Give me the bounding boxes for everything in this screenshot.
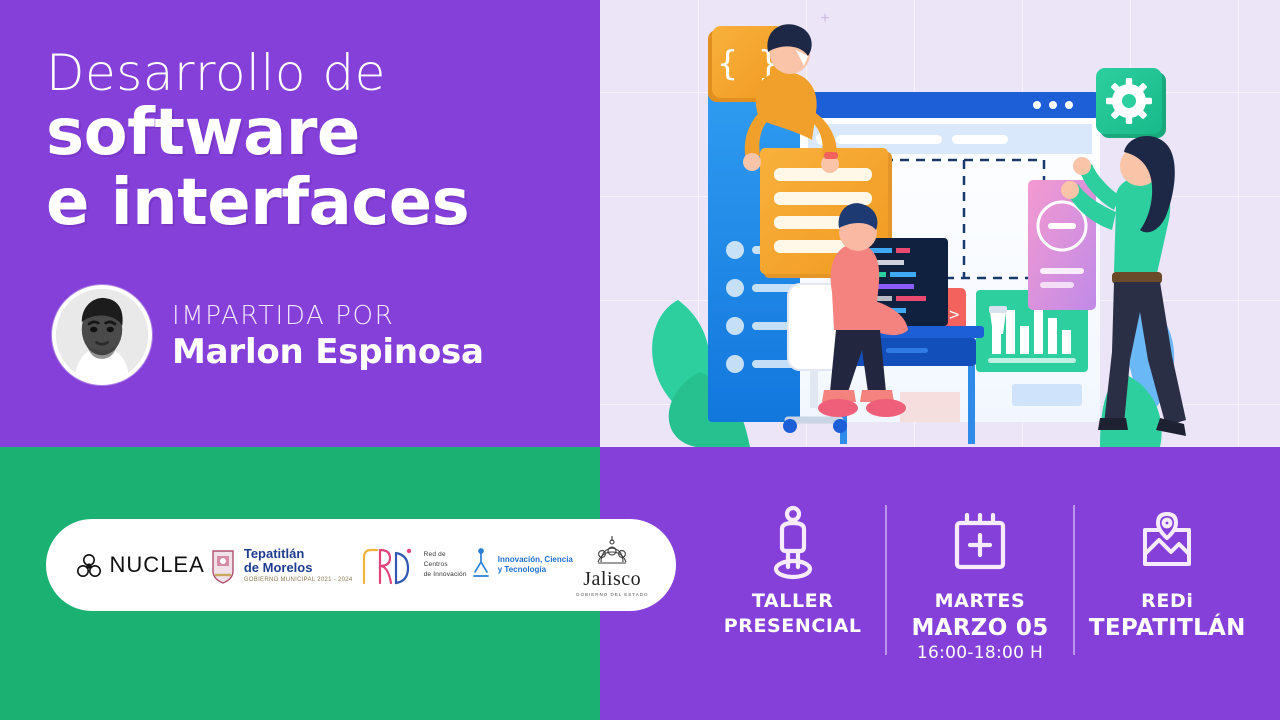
modality-line-1: TALLER	[724, 589, 862, 614]
detail-modality-lines: TALLER PRESENCIAL	[724, 589, 862, 638]
software-development-illustration: { }	[600, 0, 1280, 447]
date-line-2: MARZO 05	[911, 614, 1048, 643]
jalisco-crown-icon	[592, 534, 632, 568]
date-line-3: 16:00-18:00 H	[911, 642, 1048, 665]
ict-line-1: Innovación, Ciencia	[498, 555, 573, 565]
tepatitlan-crest-icon	[208, 545, 238, 585]
sponsor-logo-nuclea: NUCLEA	[74, 549, 205, 581]
detail-date-lines: MARTES MARZO 05 16:00-18:00 H	[911, 589, 1048, 665]
location-line-2: TEPATITLÁN	[1089, 614, 1246, 643]
jalisco-subtitle: GOBIERNO DEL ESTADO	[576, 592, 649, 597]
detail-modality: TALLER PRESENCIAL	[700, 495, 885, 638]
tepatitlan-line-1: Tepatitlán	[244, 547, 353, 561]
modality-line-2: PRESENCIAL	[724, 614, 862, 639]
sponsor-logo-redi: Red de Centros de Innovación	[356, 543, 467, 587]
person-standing-icon	[764, 503, 822, 583]
redi-logo-icon	[356, 543, 418, 587]
detail-location-lines: REDi TEPATITLÁN	[1089, 589, 1246, 642]
event-poster: +	[0, 0, 1280, 720]
sponsor-text-tepatitlan: Tepatitlán de Morelos GOBIERNO MUNICIPAL…	[244, 547, 353, 583]
redi-subtitle: Red de Centros de Innovación	[424, 550, 467, 580]
gear-card	[1096, 68, 1166, 138]
headline-line-3: e interfaces	[46, 170, 586, 238]
detail-date: MARTES MARZO 05 16:00-18:00 H	[887, 495, 1072, 665]
presenter-photo	[56, 289, 148, 381]
presenter-text: IMPARTIDA POR Marlon Espinosa	[172, 298, 484, 373]
sponsor-label-nuclea: NUCLEA	[110, 552, 205, 578]
sponsor-logo-jalisco: Jalisco GOBIERNO DEL ESTADO	[576, 534, 649, 597]
ict-line-2: y Tecnología	[498, 565, 573, 575]
ict-icon	[470, 548, 492, 582]
tepatitlan-line-3: GOBIERNO MUNICIPAL 2021 - 2024	[244, 577, 353, 583]
sponsor-logo-tepatitlan: Tepatitlán de Morelos GOBIERNO MUNICIPAL…	[208, 545, 353, 585]
jalisco-wordmark: Jalisco	[583, 568, 641, 591]
redi-sub-3: de Innovación	[424, 570, 467, 580]
redi-sub-2: Centros	[424, 560, 467, 570]
redi-sub-1: Red de	[424, 550, 467, 560]
calendar-plus-icon	[949, 503, 1011, 583]
headline-line-1: Desarrollo de	[46, 46, 586, 100]
presenter-name: Marlon Espinosa	[172, 333, 484, 372]
map-pin-icon	[1135, 503, 1199, 583]
sponsor-text-ict: Innovación, Ciencia y Tecnología	[498, 555, 573, 574]
headline-line-2: software	[46, 100, 586, 168]
presenter-label: IMPARTIDA POR	[172, 302, 484, 331]
event-details-bar: TALLER PRESENCIAL MARTES MARZO 05 16:00-…	[700, 495, 1260, 685]
sponsor-logo-ict: Innovación, Ciencia y Tecnología	[470, 548, 573, 582]
location-line-1: REDi	[1089, 589, 1246, 614]
presenter-block: IMPARTIDA POR Marlon Espinosa	[52, 285, 484, 385]
poster-headline: Desarrollo de software e interfaces	[46, 46, 586, 238]
detail-location: REDi TEPATITLÁN	[1075, 495, 1260, 642]
tepatitlan-line-2: de Morelos	[244, 561, 353, 575]
sponsor-logo-bar: NUCLEA Tepatitlán de Morelos GOBIERNO MU…	[46, 519, 676, 611]
avatar	[52, 285, 152, 385]
date-line-1: MARTES	[911, 589, 1048, 614]
atom-icon	[74, 549, 104, 581]
